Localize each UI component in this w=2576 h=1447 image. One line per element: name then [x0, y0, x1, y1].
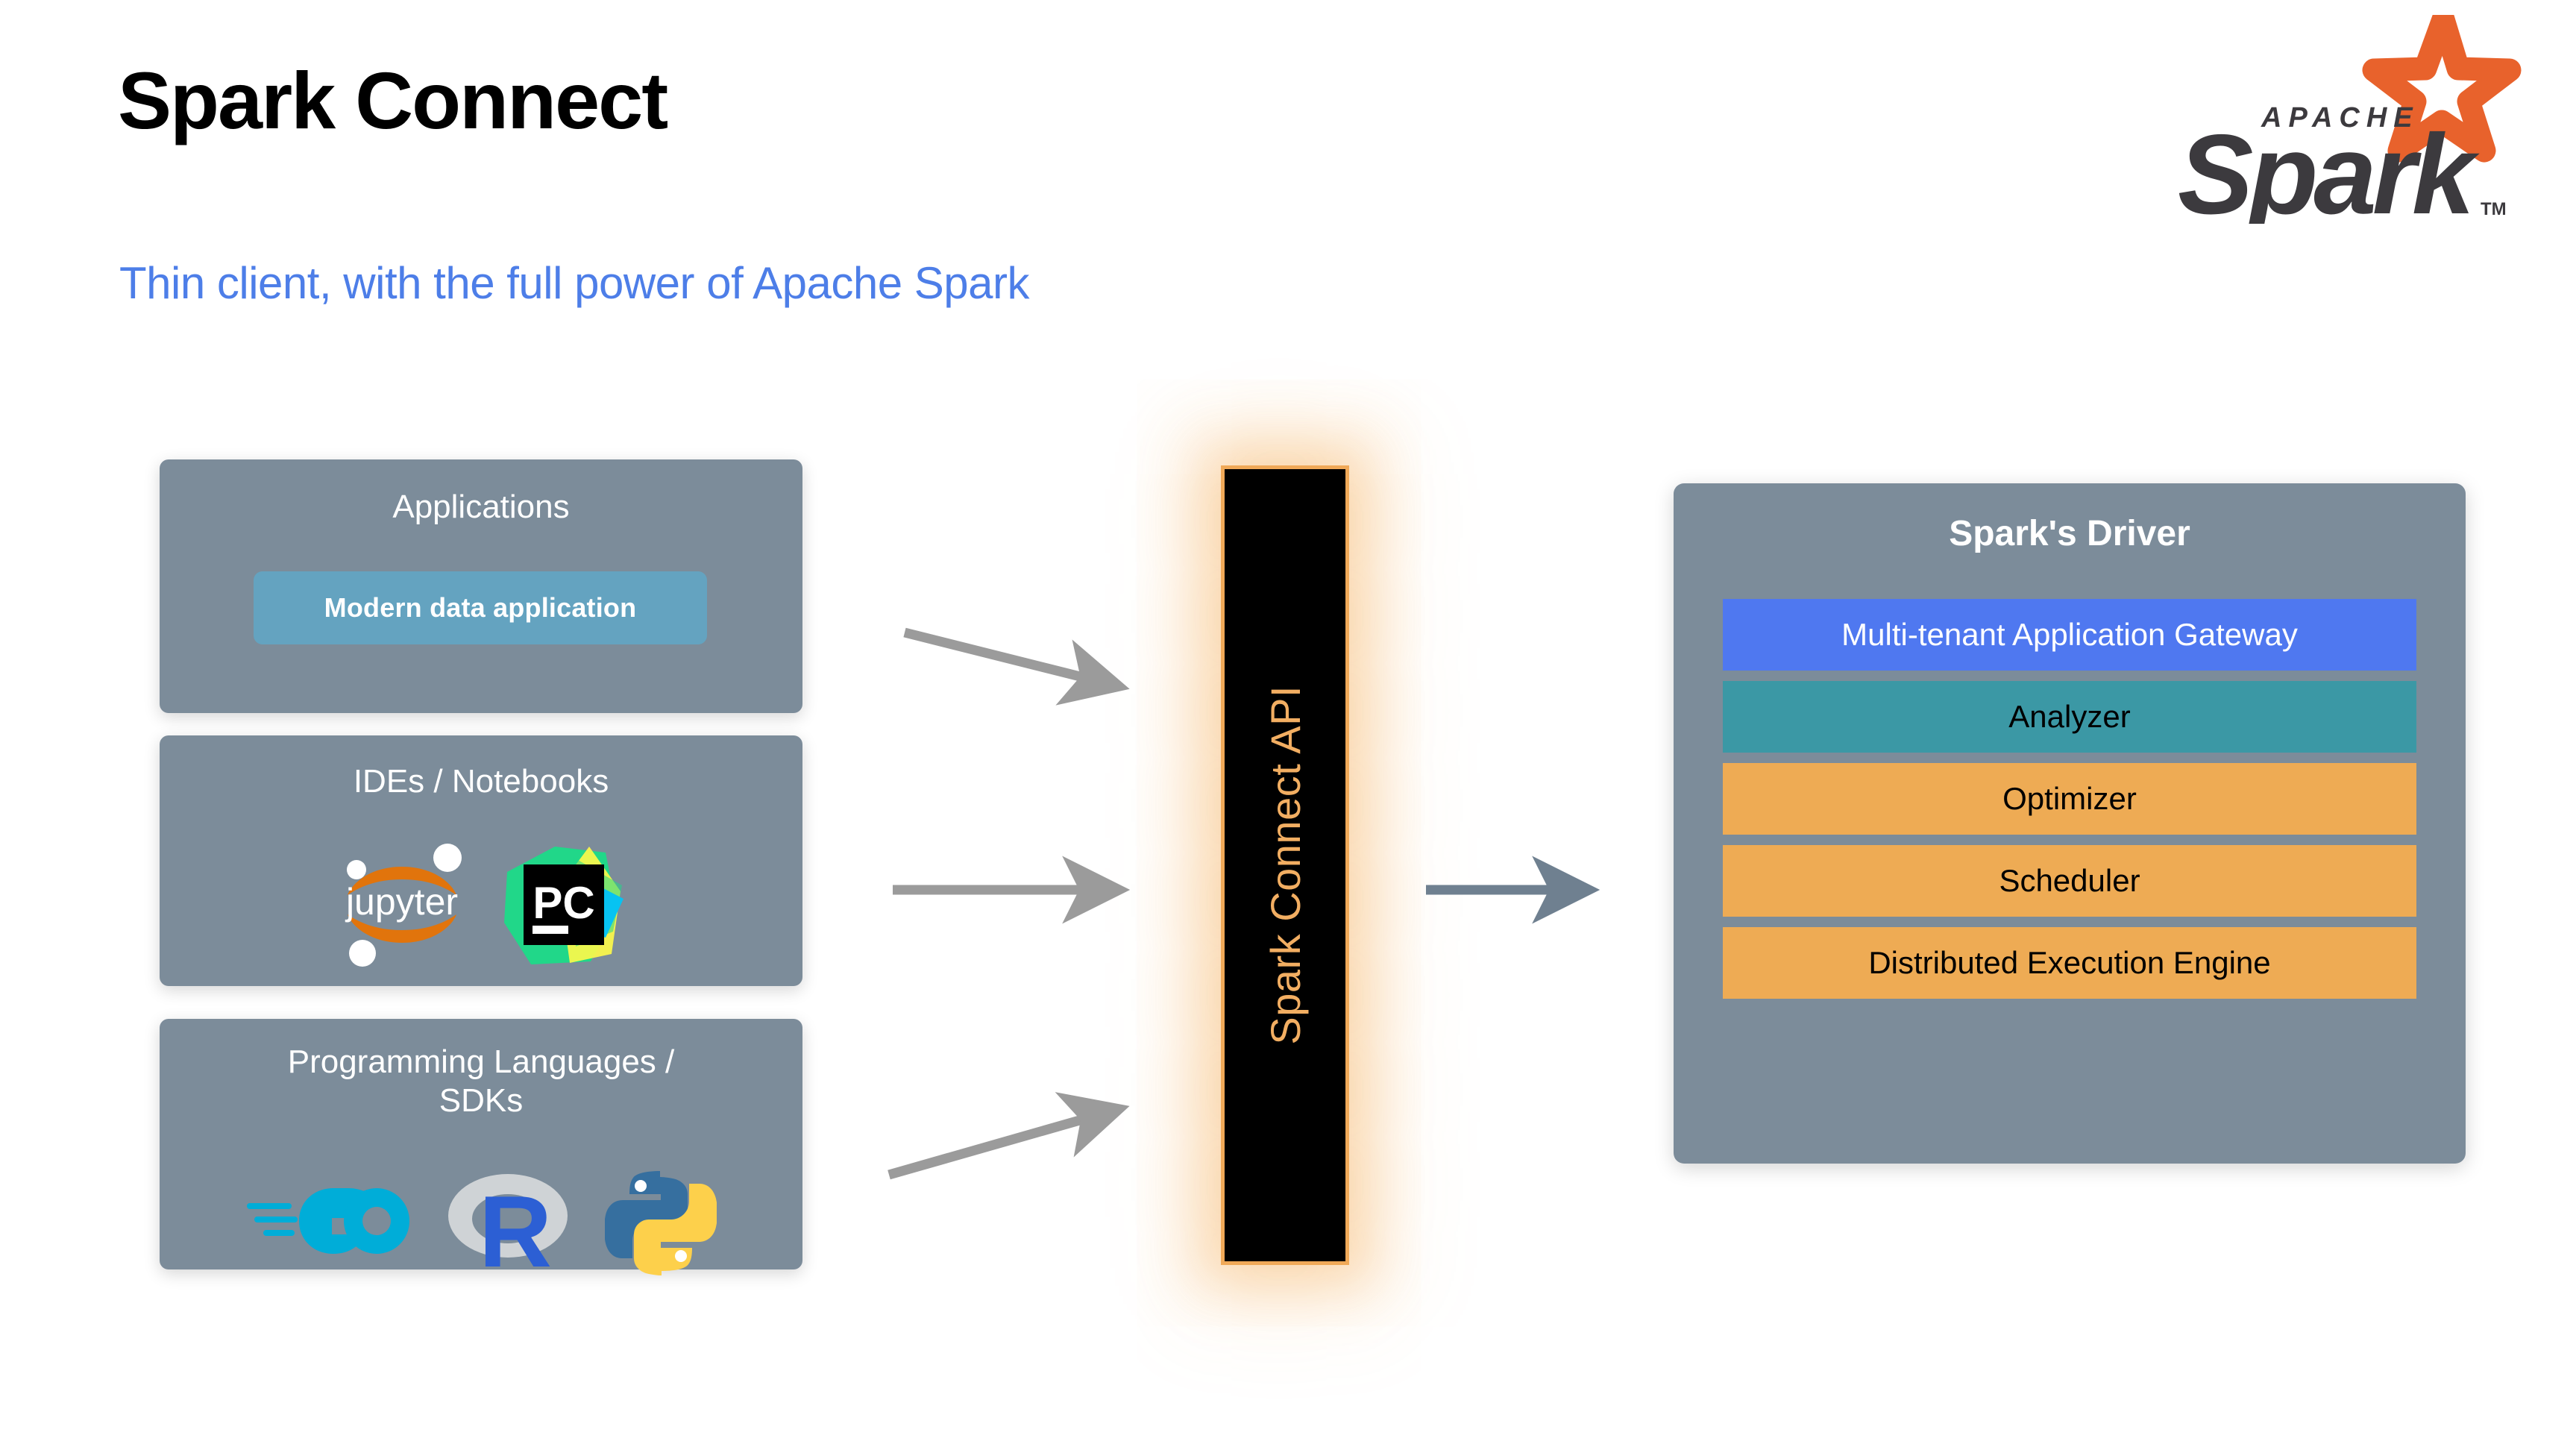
spark-driver-panel[interactable]: Spark's Driver Multi-tenant Application …	[1674, 483, 2466, 1164]
jupyter-wordmark: jupyter	[345, 881, 458, 923]
language-logo-row: R	[160, 1165, 802, 1281]
driver-layer[interactable]: Analyzer	[1723, 681, 2416, 753]
jupyter-logo: jupyter	[336, 841, 468, 972]
apache-spark-logo: APACHE Spark TM	[2151, 15, 2524, 224]
panel-languages-title-line2: SDKs	[439, 1082, 523, 1119]
panel-languages-sdks[interactable]: Programming Languages / SDKs R	[160, 1019, 802, 1269]
driver-layer[interactable]: Optimizer	[1723, 763, 2416, 835]
panel-ides-title: IDEs / Notebooks	[160, 762, 802, 801]
driver-layer[interactable]: Scheduler	[1723, 845, 2416, 917]
driver-layer[interactable]: Distributed Execution Engine	[1723, 927, 2416, 999]
driver-layer[interactable]: Multi-tenant Application Gateway	[1723, 599, 2416, 671]
trademark-mark: TM	[2481, 199, 2507, 219]
page-title: Spark Connect	[118, 58, 667, 142]
arrow-languages-to-api	[889, 1109, 1119, 1175]
python-logo	[605, 1165, 717, 1281]
spark-word: Spark	[2178, 111, 2480, 224]
r-language-logo: R	[444, 1165, 578, 1281]
panel-applications[interactable]: Applications Modern data application	[160, 459, 802, 713]
spark-connect-api-bar[interactable]: Spark Connect API	[1221, 465, 1349, 1265]
pycharm-logo: PC	[501, 842, 626, 971]
panel-ides-notebooks[interactable]: IDEs / Notebooks jupyter PC	[160, 735, 802, 986]
spark-connect-api-label: Spark Connect API	[1261, 685, 1310, 1045]
page-subtitle: Thin client, with the full power of Apac…	[119, 257, 1029, 309]
arrow-applications-to-api	[905, 633, 1119, 686]
r-letter: R	[479, 1175, 552, 1277]
modern-data-application-chip[interactable]: Modern data application	[254, 571, 707, 644]
panel-applications-title: Applications	[160, 488, 802, 527]
spark-driver-title: Spark's Driver	[1674, 513, 2466, 554]
pycharm-pc-label: PC	[533, 878, 594, 928]
golang-logo	[245, 1176, 417, 1269]
ide-logo-row: jupyter PC	[160, 841, 802, 972]
panel-languages-title: Programming Languages / SDKs	[160, 1043, 802, 1120]
driver-layer-stack: Multi-tenant Application GatewayAnalyzer…	[1723, 599, 2416, 999]
panel-languages-title-line1: Programming Languages /	[288, 1043, 675, 1080]
